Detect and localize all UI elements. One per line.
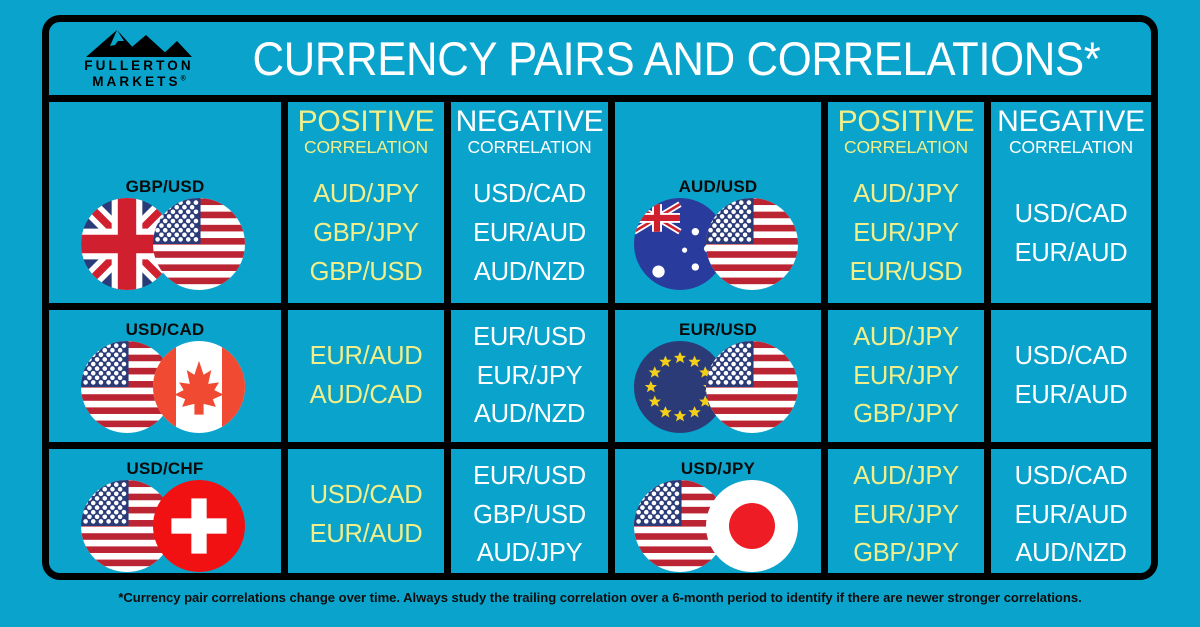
positive-correlation-item: EUR/JPY [853, 496, 959, 535]
positive-correlation-item: GBP/JPY [853, 534, 959, 573]
positive-correlation-item: EUR/USD [850, 253, 963, 292]
flag-pair [634, 480, 802, 572]
header-band: FULLERTON MARKETS® CURRENCY PAIRS AND CO… [49, 22, 1151, 102]
negative-correlation-item: USD/CAD [1015, 337, 1128, 376]
pair-label: AUD/USD [679, 177, 758, 197]
header-positive-subtitle: CORRELATION [844, 137, 968, 159]
negative-correlation-list: EUR/USDGBP/USDAUD/JPY [473, 457, 586, 573]
positive-correlation-list: AUD/JPYEUR/JPYGBP/JPY [853, 457, 959, 573]
positive-correlation-cell: AUD/JPYEUR/JPYGBP/JPY [821, 310, 984, 442]
positive-correlation-cell: AUD/JPYEUR/JPYEUR/USD [821, 164, 984, 303]
header-negative-subtitle: CORRELATION [467, 137, 591, 159]
negative-correlation-cell: USD/CADEUR/AUDAUD/NZD [444, 164, 608, 303]
pair-label: USD/CAD [126, 320, 205, 340]
negative-correlation-item: USD/CAD [473, 175, 586, 214]
positive-correlation-item: EUR/JPY [850, 214, 963, 253]
negative-correlation-item: USD/CAD [1015, 457, 1128, 496]
header-cell-positive-left: POSITIVE CORRELATION [281, 102, 444, 164]
negative-correlation-cell: USD/CADEUR/AUDAUD/NZD [984, 449, 1151, 580]
brand-logo: FULLERTON MARKETS® [75, 28, 203, 90]
negative-correlation-item: EUR/USD [473, 318, 586, 357]
header-cell-negative-left: NEGATIVE CORRELATION [444, 102, 608, 164]
negative-correlation-item: EUR/USD [473, 457, 586, 496]
flag-pair [634, 341, 802, 433]
brand-name-line1: FULLERTON [84, 58, 193, 74]
positive-correlation-item: EUR/AUD [310, 515, 423, 554]
pair-cell-usd-chf: USD/CHF [49, 449, 281, 580]
negative-correlation-list: USD/CADEUR/AUD [1015, 337, 1128, 415]
positive-correlation-item: AUD/JPY [853, 318, 959, 357]
header-positive-subtitle: CORRELATION [304, 137, 428, 159]
negative-correlation-item: EUR/AUD [1015, 496, 1128, 535]
pair-cell-aud-usd: AUD/USD [608, 164, 821, 303]
negative-correlation-item: EUR/AUD [473, 214, 586, 253]
us-flag-icon [706, 198, 798, 290]
switzerland-flag-icon [153, 480, 245, 572]
negative-correlation-item: AUD/NZD [473, 395, 586, 434]
negative-correlation-item: AUD/NZD [1015, 534, 1128, 573]
pair-label: GBP/USD [126, 177, 205, 197]
positive-correlation-item: EUR/AUD [310, 337, 423, 376]
header-negative-title: NEGATIVE [456, 107, 604, 137]
us-flag-icon [153, 198, 245, 290]
pair-cell-usd-cad: USD/CAD [49, 310, 281, 442]
negative-correlation-list: USD/CADEUR/AUDAUD/NZD [1015, 457, 1128, 573]
negative-correlation-item: AUD/JPY [473, 534, 586, 573]
negative-correlation-cell: EUR/USDEUR/JPYAUD/NZD [444, 310, 608, 442]
pair-cell-eur-usd: EUR/USD [608, 310, 821, 442]
table-row: GBP/USD AUD/JPYGBP/JPYGBP/USD USD/CADEUR… [49, 164, 1151, 303]
table-frame: FULLERTON MARKETS® CURRENCY PAIRS AND CO… [42, 15, 1158, 580]
infographic-page: FULLERTON MARKETS® CURRENCY PAIRS AND CO… [0, 0, 1200, 627]
positive-correlation-list: EUR/AUDAUD/CAD [310, 337, 423, 415]
negative-correlation-list: USD/CADEUR/AUD [1015, 195, 1128, 273]
negative-correlation-cell: USD/CADEUR/AUD [984, 164, 1151, 303]
positive-correlation-item: GBP/JPY [853, 395, 959, 434]
brand-name-line2: MARKETS® [92, 74, 186, 90]
pair-label: USD/CHF [127, 459, 204, 479]
negative-correlation-list: EUR/USDEUR/JPYAUD/NZD [473, 318, 586, 434]
flag-pair [81, 198, 249, 290]
header-positive-title: POSITIVE [298, 107, 435, 137]
positive-correlation-item: AUD/CAD [310, 376, 423, 415]
flag-pair [81, 341, 249, 433]
pair-label: EUR/USD [679, 320, 757, 340]
positive-correlation-item: GBP/JPY [310, 214, 423, 253]
negative-correlation-item: AUD/NZD [473, 253, 586, 292]
footnote: *Currency pair correlations change over … [9, 590, 1191, 605]
negative-correlation-cell: USD/CADEUR/AUD [984, 310, 1151, 442]
negative-correlation-item: EUR/AUD [1015, 234, 1128, 273]
positive-correlation-cell: USD/CADEUR/AUD [281, 449, 444, 580]
positive-correlation-item: AUD/JPY [850, 175, 963, 214]
table-header-row: POSITIVE CORRELATION NEGATIVE CORRELATIO… [49, 102, 1151, 164]
correlation-table: POSITIVE CORRELATION NEGATIVE CORRELATIO… [49, 102, 1151, 580]
table-row: USD/CAD EUR/AUDAUD/CAD EUR/USDEUR/JPYAUD… [49, 303, 1151, 442]
us-flag-icon [706, 341, 798, 433]
mountain-peaks-icon [84, 28, 194, 58]
pair-label: USD/JPY [681, 459, 755, 479]
positive-correlation-cell: AUD/JPYEUR/JPYGBP/JPY [821, 449, 984, 580]
header-cell-positive-right: POSITIVE CORRELATION [821, 102, 984, 164]
registered-mark: ® [181, 75, 186, 82]
pair-cell-usd-jpy: USD/JPY [608, 449, 821, 580]
positive-correlation-cell: AUD/JPYGBP/JPYGBP/USD [281, 164, 444, 303]
negative-correlation-item: USD/CAD [1015, 195, 1128, 234]
negative-correlation-item: EUR/JPY [473, 357, 586, 396]
japan-flag-icon [706, 480, 798, 572]
flag-pair [81, 480, 249, 572]
negative-correlation-list: USD/CADEUR/AUDAUD/NZD [473, 175, 586, 291]
header-cell-negative-right: NEGATIVE CORRELATION [984, 102, 1151, 164]
positive-correlation-list: AUD/JPYGBP/JPYGBP/USD [310, 175, 423, 291]
header-positive-title: POSITIVE [838, 107, 975, 137]
positive-correlation-list: USD/CADEUR/AUD [310, 476, 423, 554]
positive-correlation-item: AUD/JPY [853, 457, 959, 496]
pair-cell-gbp-usd: GBP/USD [49, 164, 281, 303]
canada-flag-icon [153, 341, 245, 433]
positive-correlation-cell: EUR/AUDAUD/CAD [281, 310, 444, 442]
positive-correlation-item: USD/CAD [310, 476, 423, 515]
positive-correlation-item: GBP/USD [310, 253, 423, 292]
positive-correlation-list: AUD/JPYEUR/JPYGBP/JPY [853, 318, 959, 434]
page-title: CURRENCY PAIRS AND CORRELATIONS* [246, 31, 1118, 86]
table-row: USD/CHF USD/CADEUR/AUD EUR/USDGBP/USDAUD… [49, 442, 1151, 580]
positive-correlation-item: EUR/JPY [853, 357, 959, 396]
negative-correlation-item: EUR/AUD [1015, 376, 1128, 415]
negative-correlation-cell: EUR/USDGBP/USDAUD/JPY [444, 449, 608, 580]
negative-correlation-item: GBP/USD [473, 496, 586, 535]
table-body: GBP/USD AUD/JPYGBP/JPYGBP/USD USD/CADEUR… [49, 164, 1151, 580]
positive-correlation-list: AUD/JPYEUR/JPYEUR/USD [850, 175, 963, 291]
positive-correlation-item: AUD/JPY [310, 175, 423, 214]
header-cell-pair-left [49, 102, 281, 164]
flag-pair [634, 198, 802, 290]
header-negative-title: NEGATIVE [997, 107, 1145, 137]
header-negative-subtitle: CORRELATION [1009, 137, 1133, 159]
header-cell-pair-right [608, 102, 821, 164]
